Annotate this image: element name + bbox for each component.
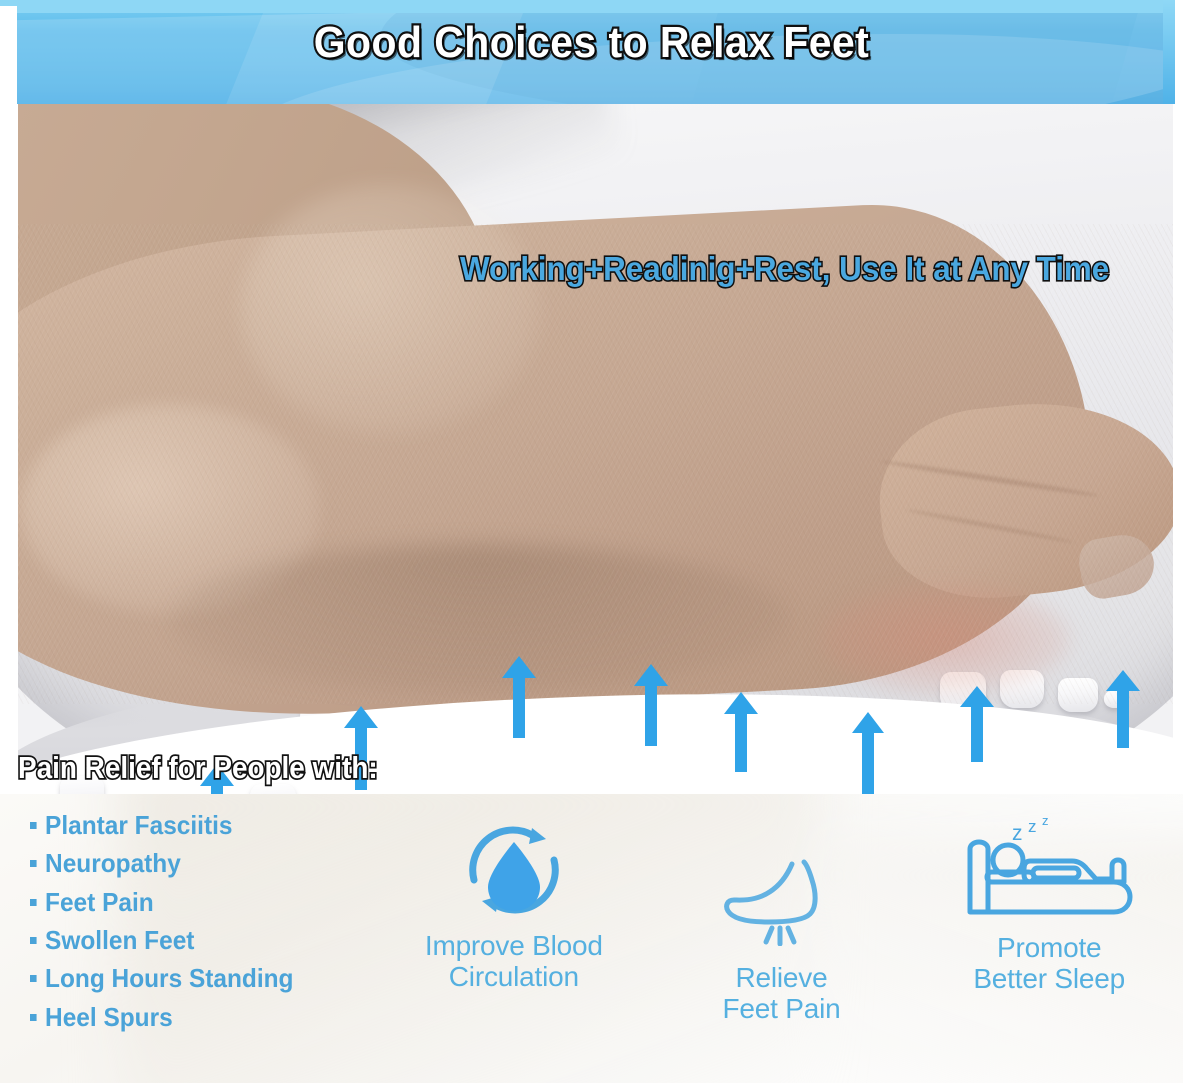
list-item: Long Hours Standing	[30, 961, 368, 995]
benefit-label: Promote Better Sleep	[973, 932, 1125, 995]
header-banner: Good Choices to Relax Feet	[0, 0, 1183, 104]
benefit-label-line1: Relieve	[736, 962, 828, 993]
benefit-label-line1: Improve Blood	[425, 930, 603, 961]
water-drop-circulation-icon	[450, 814, 578, 926]
list-item-label: Heel Spurs	[45, 1000, 173, 1034]
benefit-label: Relieve Feet Pain	[722, 962, 840, 1025]
benefit-label-line2: Feet Pain	[722, 993, 840, 1024]
up-arrow-icon	[960, 686, 994, 762]
page-title: Good Choices to Relax Feet	[41, 18, 1141, 68]
bullet-dot-icon	[30, 1014, 37, 1021]
banner-left-margin	[0, 6, 17, 104]
bullet-dot-icon	[30, 860, 37, 867]
svg-text:z: z	[1012, 822, 1023, 845]
photo-subtitle: Working+Readinig+Rest, Use It at Any Tim…	[460, 250, 1109, 288]
benefit-improve-blood-circulation: Improve Blood Circulation	[380, 814, 648, 993]
list-item-label: Plantar Fasciitis	[45, 808, 232, 842]
list-item: Feet Pain	[30, 885, 368, 919]
list-item: Heel Spurs	[30, 1000, 368, 1034]
bullet-dot-icon	[30, 822, 37, 829]
bullet-dot-icon	[30, 899, 37, 906]
list-item-label: Long Hours Standing	[45, 961, 293, 995]
up-arrow-icon	[502, 656, 536, 738]
up-arrow-icon	[724, 692, 758, 772]
benefit-label-line1: Promote	[997, 932, 1101, 963]
photo-right-margin	[1173, 104, 1183, 794]
up-arrow-icon	[634, 664, 668, 746]
bullet-dot-icon	[30, 975, 37, 982]
toe-blush-highlight	[820, 584, 1070, 694]
list-item-label: Neuropathy	[45, 846, 181, 880]
bullet-dot-icon	[30, 937, 37, 944]
list-item: Plantar Fasciitis	[30, 808, 368, 842]
foot-photo-subject	[0, 104, 1183, 794]
list-item: Swollen Feet	[30, 923, 368, 957]
person-sleeping-bed-icon: z z z	[956, 816, 1142, 928]
foot-relief-icon	[720, 846, 844, 958]
list-item-label: Feet Pain	[45, 885, 154, 919]
product-poster: Good Choices to Relax Feet	[0, 0, 1183, 1083]
banner-right-accent	[1163, 0, 1175, 104]
benefit-icons-row: Improve Blood Circulation	[380, 814, 1183, 1074]
pain-relief-heading: Pain Relief for People with:	[18, 750, 378, 786]
svg-text:z: z	[1028, 817, 1037, 836]
ankle-highlight	[240, 184, 540, 434]
svg-text:z: z	[1042, 816, 1049, 828]
arch-shadow	[170, 544, 790, 694]
up-arrow-icon	[1106, 670, 1140, 748]
banner-top-strip	[0, 0, 1183, 13]
banner-right-margin	[1175, 0, 1183, 104]
benefit-relieve-feet-pain: Relieve Feet Pain	[648, 846, 916, 1025]
up-arrow-icon	[852, 712, 884, 794]
product-photo: Working+Readinig+Rest, Use It at Any Tim…	[0, 104, 1183, 794]
benefits-panel: Plantar Fasciitis Neuropathy Feet Pain S…	[0, 794, 1183, 1083]
list-item: Neuropathy	[30, 846, 368, 880]
benefit-label-line2: Better Sleep	[973, 963, 1125, 994]
benefit-label-line2: Circulation	[425, 961, 603, 992]
list-item-label: Swollen Feet	[45, 923, 194, 957]
benefit-label: Improve Blood Circulation	[425, 930, 603, 993]
condition-list: Plantar Fasciitis Neuropathy Feet Pain S…	[30, 808, 390, 1038]
photo-left-margin	[0, 104, 18, 794]
benefit-promote-better-sleep: z z z Promote Better Sleep	[915, 816, 1183, 995]
